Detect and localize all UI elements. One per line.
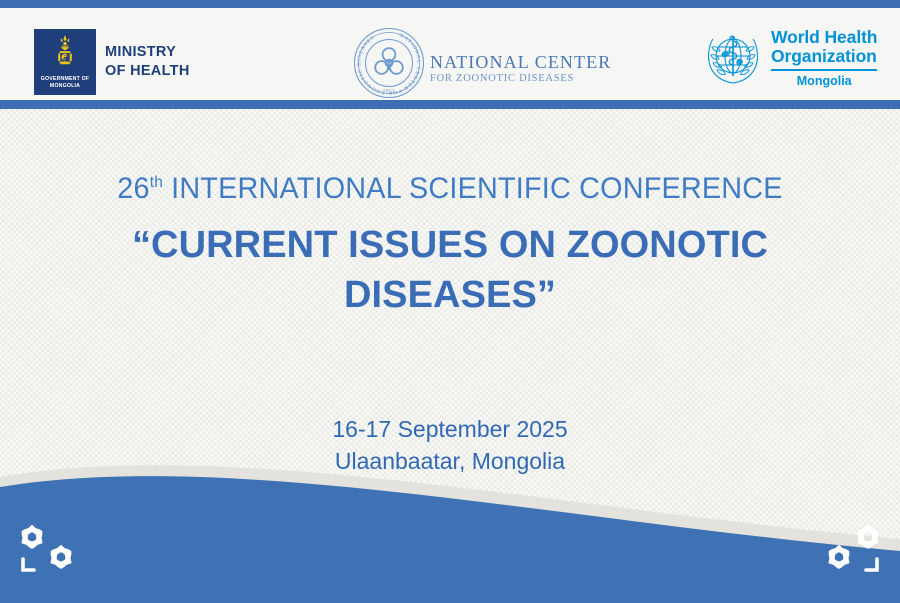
national-center-name: NATIONAL CENTER FOR ZOONOTIC DISEASES	[430, 42, 611, 85]
who-line1: World Health	[771, 28, 877, 47]
mongolian-ulzii-knot-ornament-right	[808, 519, 886, 577]
event-dates: 16-17 September 2025	[0, 413, 900, 445]
mongolia-soyombo-emblem-icon: GOVERNMENT OF MONGOLIA	[34, 29, 96, 95]
conference-edition-line: 26th INTERNATIONAL SCIENTIFIC CONFERENCE	[18, 172, 882, 206]
national-center-line2: FOR ZOONOTIC DISEASES	[430, 72, 611, 85]
mongolian-ulzii-knot-ornament-left	[14, 519, 92, 577]
edition-ordinal: th	[150, 174, 163, 191]
conference-label: INTERNATIONAL SCIENTIFIC CONFERENCE	[163, 172, 783, 205]
svg-text:1951: 1951	[383, 90, 395, 95]
who-country: Mongolia	[771, 74, 877, 88]
top-accent-bar	[0, 0, 900, 8]
emblem-caption: GOVERNMENT OF MONGOLIA	[34, 76, 96, 90]
who-emblem-icon	[702, 29, 764, 87]
bottom-wave-decoration	[0, 443, 900, 603]
title-block: 26th INTERNATIONAL SCIENTIFIC CONFERENCE…	[0, 172, 900, 320]
who-wordmark: World Health Organization Mongolia	[771, 28, 877, 88]
header-separator-bar	[0, 100, 900, 109]
who-line2: Organization	[771, 47, 877, 66]
conference-title-slide: GOVERNMENT OF MONGOLIA MINISTRY OF HEALT…	[0, 0, 900, 603]
national-center-logo: NATIONAL CENTER FOR ZOONOTIC DISEASES 19…	[352, 26, 611, 100]
who-divider	[771, 69, 877, 71]
conference-theme-line1: “CURRENT ISSUES ON ZOONOTIC	[0, 220, 900, 270]
conference-theme-line2: DISEASES”	[0, 270, 900, 320]
who-logo: World Health Organization Mongolia	[702, 28, 877, 88]
logo-header: GOVERNMENT OF MONGOLIA MINISTRY OF HEALT…	[0, 8, 900, 100]
ministry-of-health-name: MINISTRY OF HEALTH	[105, 43, 190, 81]
conference-theme: “CURRENT ISSUES ON ZOONOTIC DISEASES”	[0, 220, 900, 320]
edition-number: 26	[117, 172, 149, 205]
ministry-of-health-logo: GOVERNMENT OF MONGOLIA MINISTRY OF HEALT…	[34, 29, 190, 95]
national-center-line1: NATIONAL CENTER	[430, 52, 611, 72]
biohazard-seal-icon: NATIONAL CENTER FOR ZOONOTIC DISEASES 19…	[352, 26, 426, 100]
